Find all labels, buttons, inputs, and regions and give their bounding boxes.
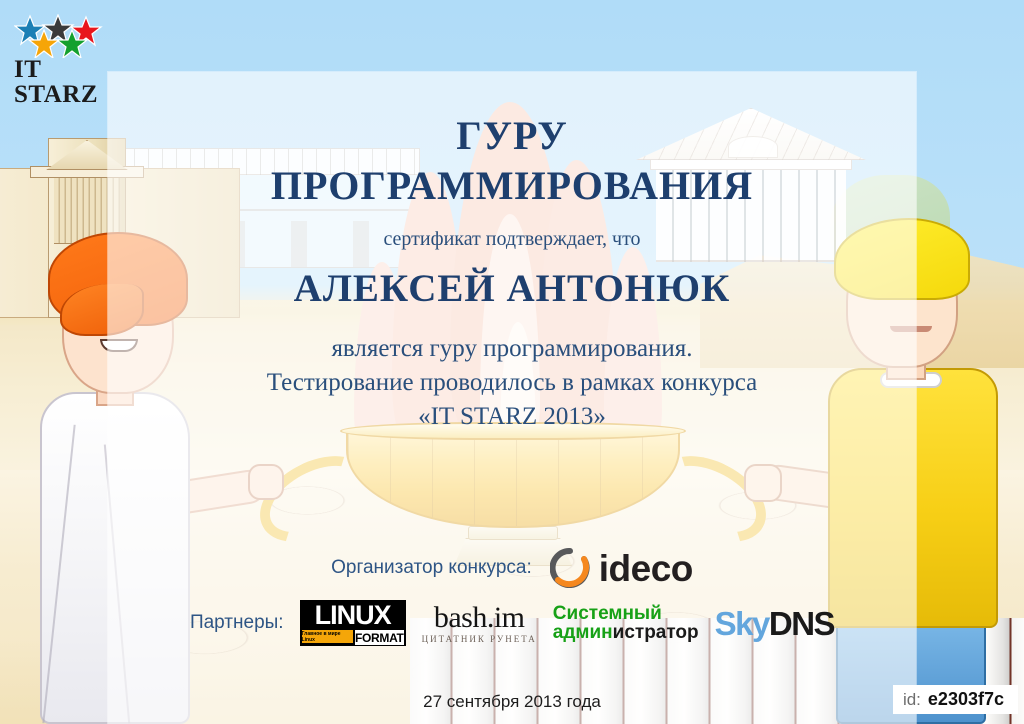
partner-logo-sistemny-administrator: Системный администратор <box>553 604 699 643</box>
id-label: id: <box>903 690 921 710</box>
skydns-part1: Sky <box>715 605 769 642</box>
organizer-label: Организатор конкурса: <box>331 557 532 579</box>
linux-format-top-text: LINUX <box>300 600 406 629</box>
organizer-row: Организатор конкурса: ideco <box>0 548 1024 588</box>
certificate-id-badge: id: e2303f7c <box>893 685 1018 714</box>
linux-format-bottom-bar: Главное в мире Linux FORMAT <box>300 630 406 646</box>
body-line-1: является гуру программирования. <box>0 332 1024 366</box>
sysadmin-line2-black: истратор <box>613 622 699 643</box>
certificate-confirm-text: сертификат подтверждает, что <box>0 228 1024 251</box>
sysadmin-line1: Системный <box>553 604 699 623</box>
id-value: e2303f7c <box>928 689 1004 710</box>
sysadmin-line2: администратор <box>553 623 699 642</box>
skydns-part2: DNS <box>769 605 834 642</box>
linux-format-bottom-text: FORMAT <box>355 630 404 645</box>
ideco-ring-icon <box>550 548 590 588</box>
ideco-logo: ideco <box>550 548 693 588</box>
certificate-body: является гуру программирования. Тестиров… <box>0 332 1024 433</box>
partners-label: Партнеры: <box>190 612 284 634</box>
partner-logo-linux-format: LINUX Главное в мире Linux FORMAT <box>300 600 406 646</box>
ideco-wordmark: ideco <box>599 550 693 587</box>
bash-im-title: bash.im <box>434 603 525 633</box>
partners-row: Партнеры: LINUX Главное в мире Linux FOR… <box>0 600 1024 646</box>
linux-format-tagline: Главное в мире Linux <box>302 630 353 643</box>
certificate-canvas: IT STARZ ГУРУ ПРОГРАММИРОВАНИЯ сертифика… <box>0 0 1024 724</box>
certificate-title-line1: ГУРУ <box>0 112 1024 159</box>
recipient-name: АЛЕКСЕЙ АНТОНЮК <box>0 266 1024 311</box>
partner-logo-skydns: SkyDNS <box>715 607 834 640</box>
body-line-2: Тестирование проводилось в рамках конкур… <box>0 366 1024 400</box>
certificate-date: 27 сентября 2013 года <box>0 692 1024 712</box>
certificate-content: ГУРУ ПРОГРАММИРОВАНИЯ сертификат подтвер… <box>0 0 1024 724</box>
body-line-3: «IT STARZ 2013» <box>0 400 1024 434</box>
bash-im-subtitle: ЦИТАТНИК РУНЕТА <box>422 635 537 644</box>
certificate-title-line2: ПРОГРАММИРОВАНИЯ <box>0 162 1024 209</box>
partner-logo-bash-im: bash.im ЦИТАТНИК РУНЕТА <box>422 603 537 644</box>
sysadmin-line2-green: админ <box>553 622 613 643</box>
